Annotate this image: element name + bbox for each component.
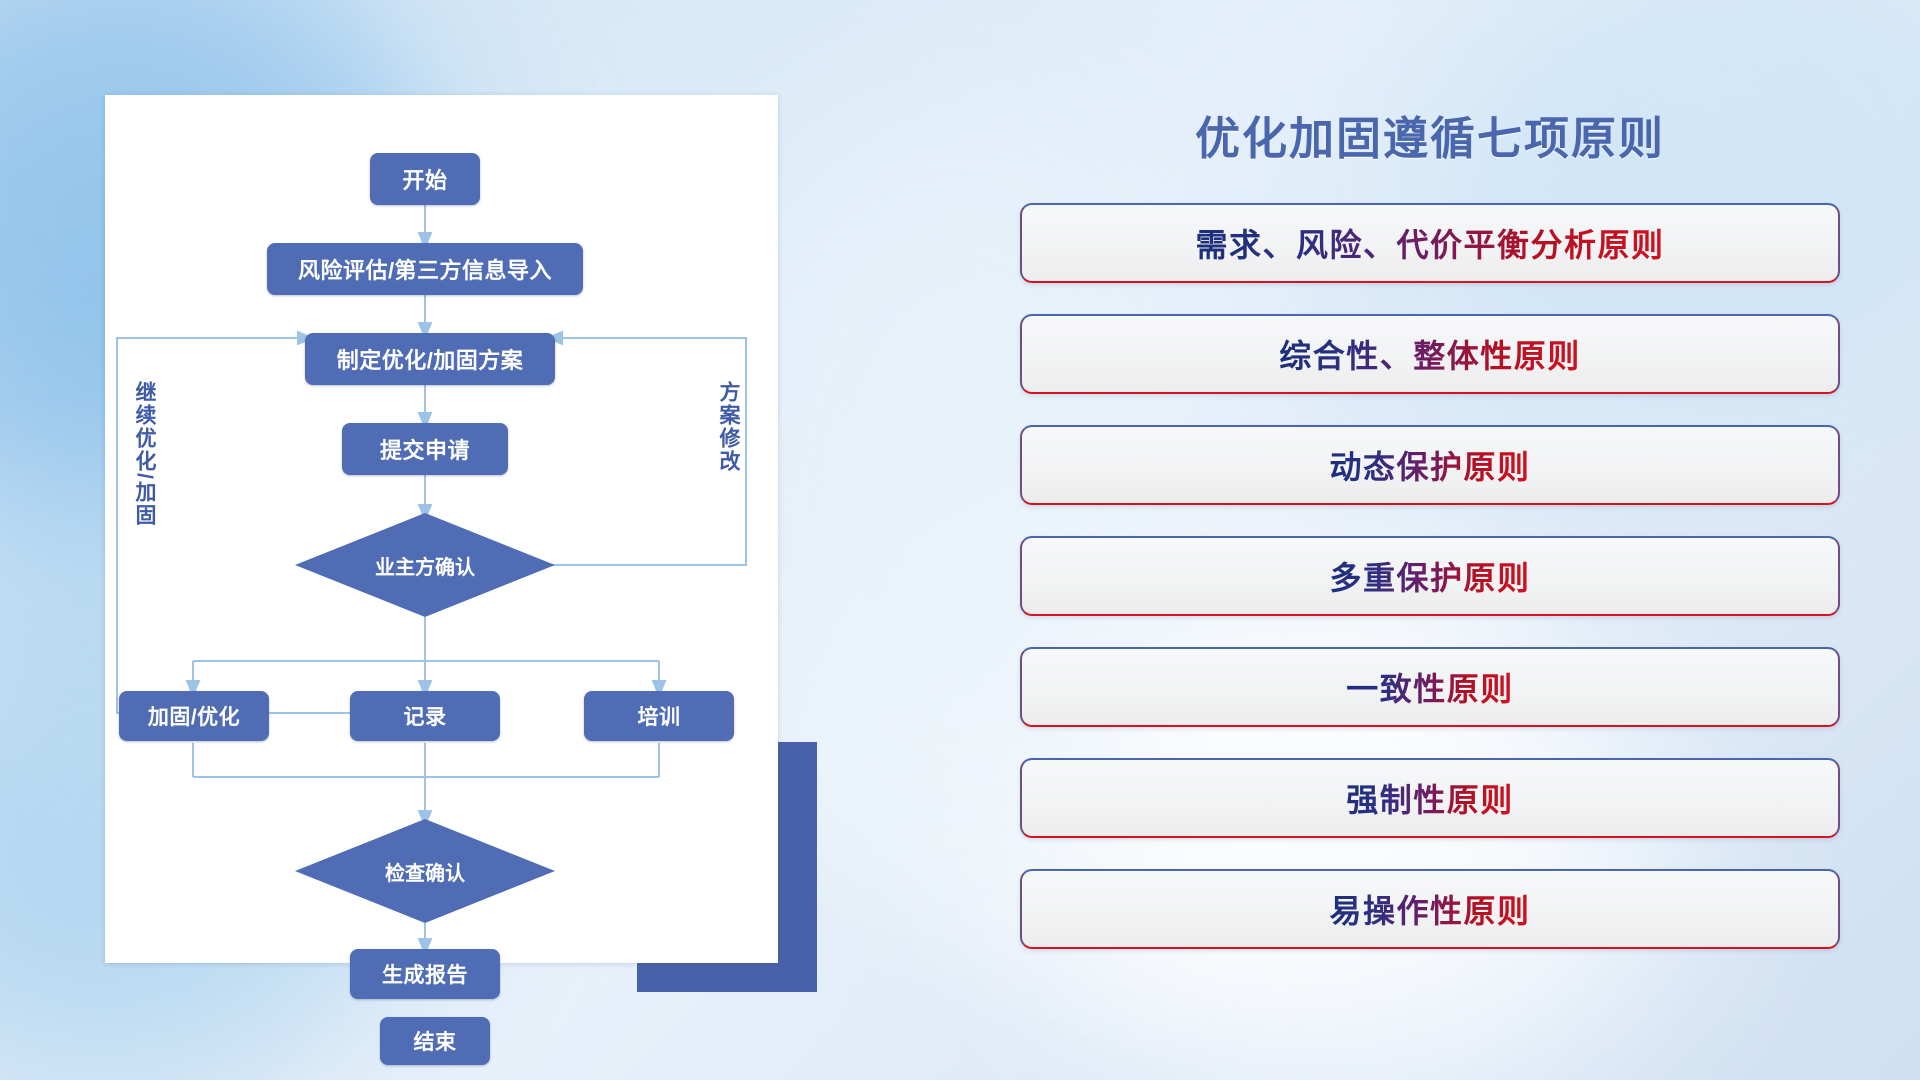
principle-label: 一致性原则: [1346, 664, 1514, 710]
flow-node-owner-confirm[interactable]: 业主方确认: [295, 513, 555, 617]
flow-node-start-label: 开始: [402, 163, 447, 195]
flow-node-record-label: 记录: [404, 701, 447, 731]
flow-node-submit-label: 提交申请: [380, 433, 470, 465]
principle-label: 综合性、整体性原则: [1279, 331, 1581, 377]
flow-node-reinforce-label: 加固/优化: [148, 701, 240, 731]
flow-node-training-label: 培训: [638, 701, 681, 731]
flow-node-plan[interactable]: 制定优化/加固方案: [305, 333, 555, 385]
flow-node-submit[interactable]: 提交申请: [342, 423, 508, 475]
principle-label: 易操作性原则: [1329, 886, 1530, 932]
flow-node-owner-confirm-label: 业主方确认: [375, 551, 475, 580]
principle-label: 强制性原则: [1346, 775, 1514, 821]
principle-card-5[interactable]: 一致性原则: [1020, 647, 1840, 727]
principle-list: 需求、风险、代价平衡分析原则 综合性、整体性原则 动态保护原则 多重保护原则 一…: [1020, 203, 1840, 949]
flow-node-record[interactable]: 记录: [350, 691, 500, 741]
principle-label: 多重保护原则: [1329, 553, 1530, 599]
flowchart-card: 开始 风险评估/第三方信息导入 制定优化/加固方案 提交申请 业主方确认 加固/…: [105, 95, 778, 963]
principle-card-7[interactable]: 易操作性原则: [1020, 869, 1840, 949]
flow-node-risk-assessment[interactable]: 风险评估/第三方信息导入: [267, 243, 583, 295]
flow-node-check-confirm-label: 检查确认: [385, 857, 465, 886]
principle-card-3[interactable]: 动态保护原则: [1020, 425, 1840, 505]
flow-node-plan-label: 制定优化/加固方案: [337, 343, 524, 375]
principle-label: 需求、风险、代价平衡分析原则: [1195, 220, 1664, 266]
flow-node-check-confirm[interactable]: 检查确认: [295, 819, 555, 923]
flow-node-end-label: 结束: [414, 1026, 457, 1056]
flow-node-end[interactable]: 结束: [380, 1017, 490, 1065]
flow-node-report-label: 生成报告: [382, 959, 468, 989]
panel-title: 优化加固遵循七项原则: [1020, 102, 1840, 167]
flow-edge-label-plan-revision: 方案修改: [717, 381, 739, 473]
flow-node-report[interactable]: 生成报告: [350, 949, 500, 999]
flow-node-start[interactable]: 开始: [370, 153, 480, 205]
principles-panel: 优化加固遵循七项原则 需求、风险、代价平衡分析原则 综合性、整体性原则 动态保护…: [1020, 88, 1840, 1008]
principle-label: 动态保护原则: [1329, 442, 1530, 488]
principle-card-1[interactable]: 需求、风险、代价平衡分析原则: [1020, 203, 1840, 283]
flow-node-training[interactable]: 培训: [584, 691, 734, 741]
flow-edge-label-continue-optimize: 继续优化/加固: [133, 381, 155, 527]
principle-card-4[interactable]: 多重保护原则: [1020, 536, 1840, 616]
flow-node-risk-assessment-label: 风险评估/第三方信息导入: [298, 253, 552, 285]
principle-card-6[interactable]: 强制性原则: [1020, 758, 1840, 838]
principle-card-2[interactable]: 综合性、整体性原则: [1020, 314, 1840, 394]
flow-node-reinforce[interactable]: 加固/优化: [119, 691, 269, 741]
